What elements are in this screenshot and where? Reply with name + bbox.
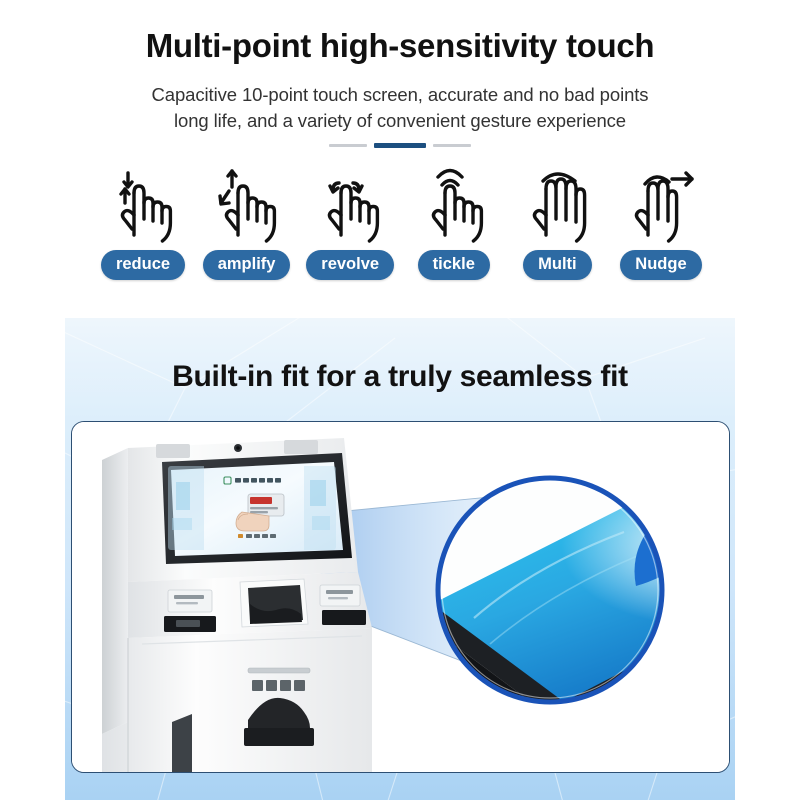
- gesture-item-nudge[interactable]: Nudge: [613, 162, 709, 280]
- section-title: Built-in fit for a truly seamless fit: [65, 360, 735, 394]
- touch-feature-section: Multi-point high-sensitivity touch Capac…: [0, 0, 800, 318]
- gesture-item-revolve[interactable]: revolve: [302, 162, 398, 280]
- product-image-card: [71, 421, 730, 773]
- tap-hand-icon: [413, 162, 495, 244]
- page-title: Multi-point high-sensitivity touch: [0, 27, 800, 65]
- gesture-item-amplify[interactable]: amplify: [199, 162, 295, 280]
- divider-left-segment: [329, 144, 367, 147]
- card-slot-right: [320, 585, 366, 625]
- pinch-in-hand-icon: [102, 162, 184, 244]
- subtitle-line-1: Capacitive 10-point touch screen, accura…: [0, 84, 800, 106]
- gesture-label-multi[interactable]: Multi: [523, 250, 592, 280]
- seamless-fit-section: Built-in fit for a truly seamless fit: [65, 318, 735, 800]
- gesture-label-amplify[interactable]: amplify: [203, 250, 291, 280]
- multi-finger-hand-icon: [516, 162, 598, 244]
- divider-right-segment: [433, 144, 471, 147]
- gesture-label-revolve[interactable]: revolve: [306, 250, 394, 280]
- pinch-out-hand-icon: [206, 162, 288, 244]
- subtitle-line-2: long life, and a variety of convenient g…: [0, 110, 800, 132]
- kiosk-device: [102, 438, 372, 772]
- receipt-printer: [240, 579, 308, 627]
- gesture-label-reduce[interactable]: reduce: [101, 250, 185, 280]
- kiosk-illustration: [72, 422, 729, 772]
- swipe-right-hand-icon: [620, 162, 702, 244]
- gesture-item-multi[interactable]: Multi: [509, 162, 605, 280]
- gesture-label-nudge[interactable]: Nudge: [620, 250, 701, 280]
- card-slot-left: [164, 590, 216, 632]
- gesture-item-reduce[interactable]: reduce: [95, 162, 191, 280]
- divider-center-segment: [374, 143, 426, 148]
- gesture-list: reduce amplify: [95, 162, 709, 280]
- rotate-hand-icon: [309, 162, 391, 244]
- gesture-label-tickle[interactable]: tickle: [418, 250, 490, 280]
- section-divider: [0, 143, 800, 148]
- gesture-item-tickle[interactable]: tickle: [406, 162, 502, 280]
